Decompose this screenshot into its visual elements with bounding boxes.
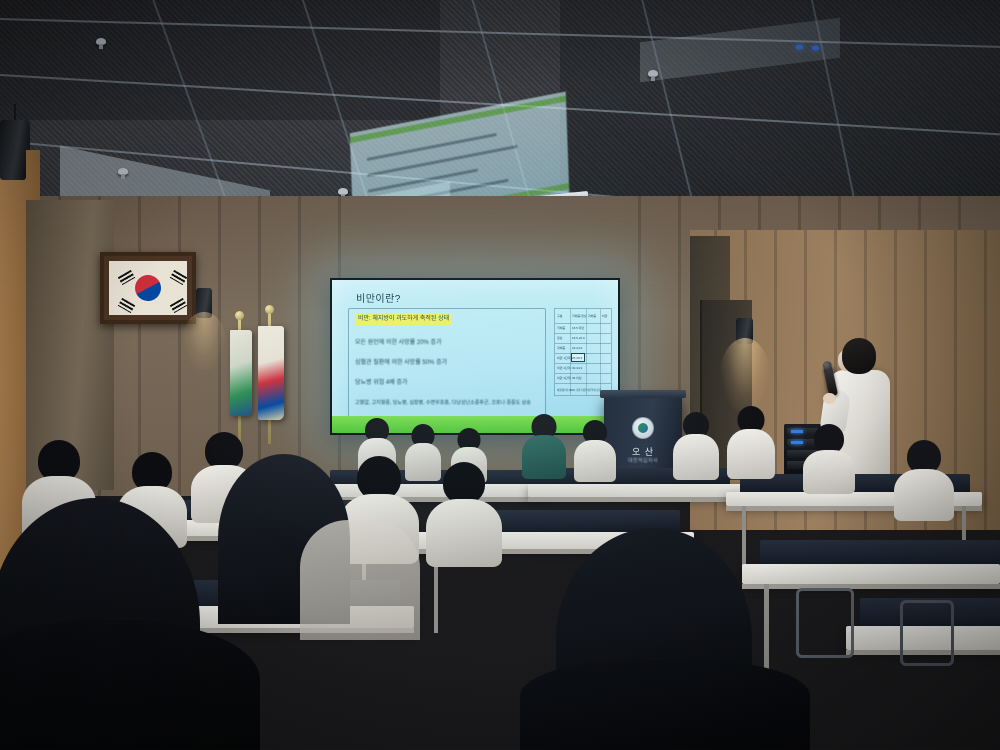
slide-bullet: 모든 원인에 의한 사망률 20% 증가 bbox=[355, 337, 442, 346]
presenter-hand bbox=[823, 393, 836, 404]
table-cell: 비만 1단계 bbox=[557, 356, 571, 360]
table-header-cell: 저체중/정상 bbox=[572, 314, 587, 318]
slide-highlight-line: 비만: 체지방이 과도하게 축적된 상태 bbox=[355, 314, 452, 325]
table-header-cell: 과체중 bbox=[588, 314, 596, 318]
presenter-head bbox=[842, 338, 876, 374]
lecture-hall-photo: 비만이란? 비만: 체지방이 과도하게 축적된 상태 모든 원인에 의한 사망률… bbox=[0, 0, 1000, 750]
sprinkler-head-icon bbox=[338, 188, 348, 195]
audience-member bbox=[730, 406, 772, 476]
taeguk-symbol-icon bbox=[130, 270, 165, 305]
table-cell: 18.5 미만 bbox=[572, 326, 584, 330]
table-cell: 정상 bbox=[557, 336, 563, 340]
wall-sconce bbox=[0, 120, 26, 180]
slide-data-table: 구분 저체중/정상 과체중 비만 저체중 18.5 미만 정상 18.5-22.… bbox=[554, 308, 612, 396]
table-cell: 비만 2단계 bbox=[557, 366, 571, 370]
foreground-audience-member bbox=[0, 620, 260, 750]
podium-emblem-icon bbox=[632, 417, 654, 439]
table-cell: 과체중 bbox=[557, 346, 565, 350]
chair[interactable] bbox=[900, 600, 954, 666]
audience-member bbox=[806, 424, 852, 490]
audience-member bbox=[676, 412, 716, 478]
audience-member bbox=[898, 440, 950, 516]
foreground-white-shirt bbox=[300, 520, 420, 640]
table-header-cell: 비만 bbox=[602, 314, 608, 318]
sprinkler-head-icon bbox=[96, 38, 106, 45]
audience-member bbox=[576, 420, 614, 478]
organization-flag bbox=[230, 330, 252, 416]
table-cell: 25-29.9 bbox=[572, 356, 582, 360]
table-cell: 18.5-22.9 bbox=[572, 336, 585, 340]
table-cell: 저체중 bbox=[557, 326, 565, 330]
chair[interactable] bbox=[796, 588, 854, 658]
table-cell: 비만 3단계 bbox=[557, 376, 571, 380]
desk bbox=[528, 484, 742, 497]
sprinkler-head-icon bbox=[118, 168, 128, 175]
desk bbox=[742, 564, 1000, 584]
korean-national-flag bbox=[258, 326, 284, 420]
slide-bullet-box: 비만: 체지방이 과도하게 축적된 상태 모든 원인에 의한 사망률 20% 증… bbox=[348, 308, 546, 418]
table-header-cell: 구분 bbox=[557, 314, 563, 318]
slide-bullet: 고혈압, 고지혈증, 당뇨병, 심장병, 수면무호흡, 다낭성난소증후군, 코로… bbox=[355, 399, 531, 406]
framed-korean-flag bbox=[100, 252, 196, 324]
ceiling-device-led-icon bbox=[812, 46, 819, 50]
ceiling-device-led-icon bbox=[796, 45, 803, 49]
slide-bullet: 당뇨병 위험 4배 증가 bbox=[355, 377, 408, 386]
foreground-audience-member bbox=[520, 660, 810, 750]
table-cell: 35 이상 bbox=[572, 376, 582, 380]
sprinkler-head-icon bbox=[648, 70, 658, 77]
audience-member bbox=[524, 414, 564, 476]
table-cell: 23-24.9 bbox=[572, 346, 582, 350]
slide-title: 비만이란? bbox=[356, 290, 401, 305]
audience-member bbox=[432, 462, 496, 562]
slide-bullet: 심혈관 질환에 의한 사망률 50% 증가 bbox=[355, 357, 447, 366]
table-cell: 30-34.9 bbox=[572, 366, 582, 370]
table-footnote: 체질량지수(BMI) 기준 대한비만학회 분류 bbox=[557, 388, 601, 392]
slide-content: 비만이란? 비만: 체지방이 과도하게 축적된 상태 모든 원인에 의한 사망률… bbox=[332, 280, 618, 433]
projection-screen: 비만이란? 비만: 체지방이 과도하게 축적된 상태 모든 원인에 의한 사망률… bbox=[330, 278, 620, 435]
